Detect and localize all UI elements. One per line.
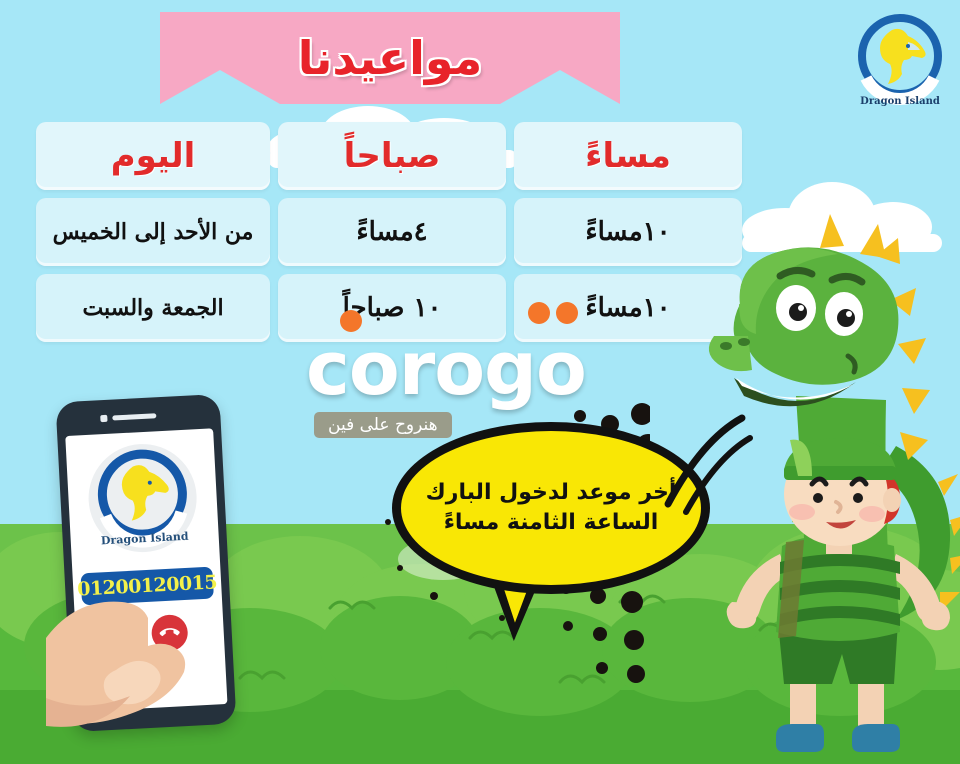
header-cell-morning: صباحاً [278,122,506,190]
header-cell-day: اليوم [36,122,270,190]
phone-call-illustration: Dragon Island 01200120015 [46,398,276,764]
motion-lines-decoration [660,408,760,518]
row2-day-value: الجمعة والسبت [82,295,223,321]
watermark-tagline-badge: هنروح على فين [314,412,452,438]
schedule-table: اليوم صباحاً مساءً من الأحد إلى الخميس ٤… [36,122,742,350]
row1-morning-cell: ٤مساءً [278,198,506,266]
hand-illustration [46,398,276,764]
watermark-dot [528,302,550,324]
row2-evening-value: ١٠مساءً [585,293,670,323]
watermark-tagline: هنروح على فين [328,415,438,435]
poster-canvas: مواعيدنا Dragon Island اليوم صباحاً مساء… [0,0,960,764]
dragon-island-logo[interactable]: Dragon Island [848,8,952,112]
page-title: مواعيدنا [160,18,620,98]
watermark-dot [556,302,578,324]
row1-evening-value: ١٠مساءً [585,217,670,247]
notice-line-2: الساعة الثامنة مساءً [444,508,659,538]
watermark-brand: corogo [306,336,646,403]
header-evening-label: مساءً [585,136,671,176]
notice-line-1: أخر موعد لدخول البارك [426,478,677,508]
header-morning-label: صباحاً [344,136,441,176]
row1-day-cell: من الأحد إلى الخميس [36,198,270,266]
watermark-dot [340,310,362,332]
table-row: من الأحد إلى الخميس ٤مساءً ١٠مساءً [36,198,742,266]
header-cell-evening: مساءً [514,122,742,190]
row1-morning-value: ٤مساءً [356,217,427,247]
row2-day-cell: الجمعة والسبت [36,274,270,342]
title-ribbon: مواعيدنا [160,12,620,112]
table-header-row: اليوم صباحاً مساءً [36,122,742,190]
row1-day-value: من الأحد إلى الخميس [53,219,254,245]
watermark: corogo هنروح على فين [306,336,646,446]
logo-text: Dragon Island [860,96,940,107]
dragon-logo-icon: Dragon Island [848,8,952,112]
boy-character-illustration [726,436,960,764]
header-day-label: اليوم [111,136,196,176]
